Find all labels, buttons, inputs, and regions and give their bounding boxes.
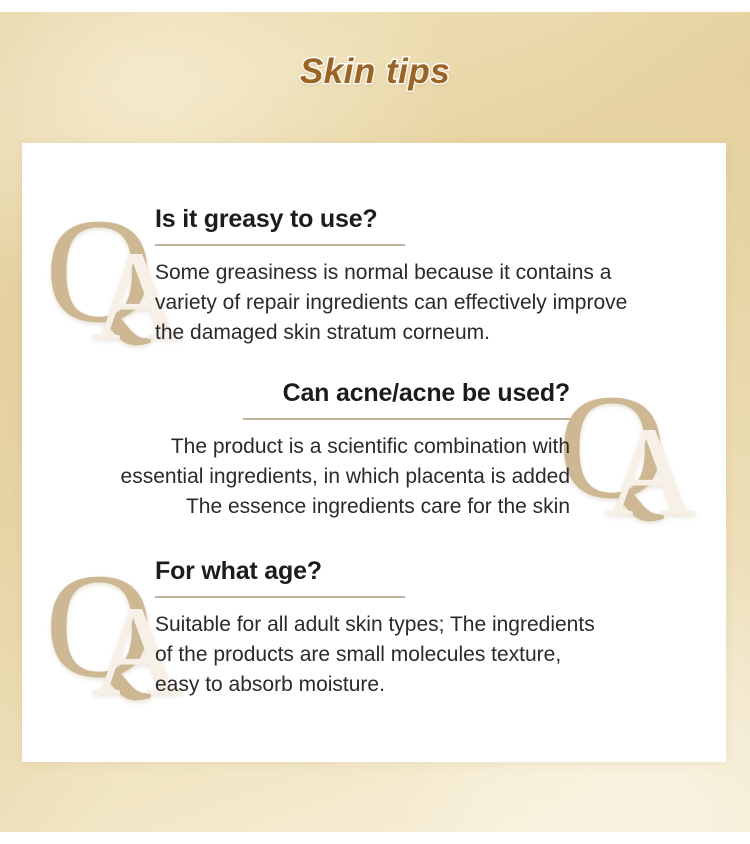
letter-a-icon: A bbox=[604, 408, 696, 536]
faq-answer: The product is a scientific combination … bbox=[20, 432, 570, 522]
faq-divider bbox=[243, 418, 570, 420]
faq-item: Can acne/acne be used? The product is a … bbox=[20, 378, 570, 522]
faq-divider bbox=[155, 596, 405, 598]
faq-question: Can acne/acne be used? bbox=[20, 378, 570, 408]
faq-question: Is it greasy to use? bbox=[155, 204, 715, 234]
qa-monogram-icon: Q A bbox=[45, 551, 163, 711]
faq-answer: Suitable for all adult skin types; The i… bbox=[155, 610, 715, 700]
qa-monogram-icon: Q A bbox=[558, 372, 676, 532]
qa-monogram-icon: Q A bbox=[45, 196, 163, 356]
faq-divider bbox=[155, 244, 405, 246]
faq-card: Q A Q A Q A Is it greasy to use? Some gr… bbox=[22, 143, 726, 762]
letter-q-icon: Q bbox=[45, 551, 153, 701]
letter-q-icon: Q bbox=[558, 372, 666, 522]
faq-question: For what age? bbox=[155, 556, 715, 586]
letter-q-icon: Q bbox=[45, 196, 153, 346]
skin-tips-infographic: Skin tips Q A Q A Q A Is it greasy to us… bbox=[0, 0, 750, 844]
page-title: Skin tips bbox=[0, 52, 750, 92]
faq-item: For what age? Suitable for all adult ski… bbox=[155, 556, 715, 700]
faq-answer: Some greasiness is normal because it con… bbox=[155, 258, 715, 348]
faq-item: Is it greasy to use? Some greasiness is … bbox=[155, 204, 715, 348]
